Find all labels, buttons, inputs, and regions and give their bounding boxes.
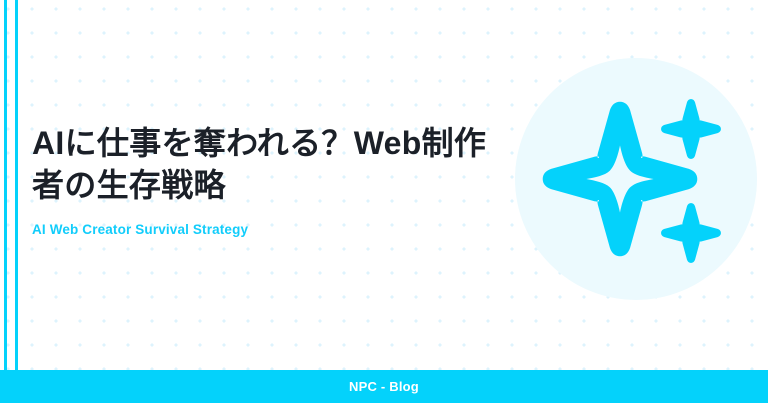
- left-accent-rule-inner: [15, 0, 18, 374]
- footer-site-label: NPC - Blog: [349, 379, 419, 394]
- footer-bar: NPC - Blog: [0, 370, 768, 403]
- card-text-block: AIに仕事を奪われる？Web制作者の生存戦略 AI Web Creator Su…: [32, 122, 502, 237]
- sparkle-solid-icon: [657, 95, 725, 163]
- sparkle-solid-icon: [657, 199, 725, 267]
- left-accent-rule-outer: [4, 0, 7, 374]
- page-subtitle: AI Web Creator Survival Strategy: [32, 222, 502, 237]
- blog-ogp-card: AIに仕事を奪われる？Web制作者の生存戦略 AI Web Creator Su…: [0, 0, 768, 403]
- page-title: AIに仕事を奪われる？Web制作者の生存戦略: [32, 122, 502, 206]
